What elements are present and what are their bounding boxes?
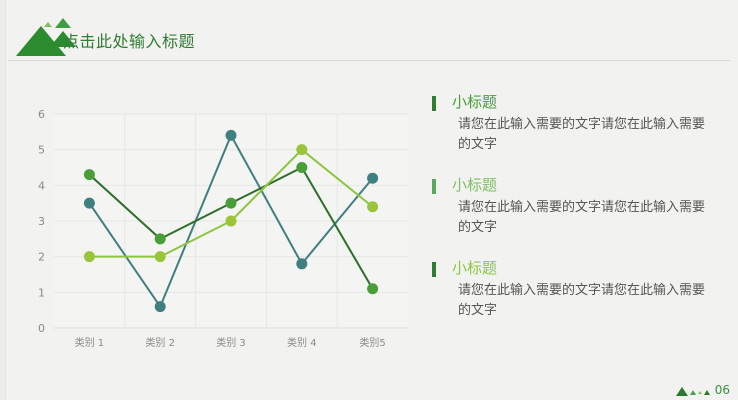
text-block-3-body[interactable]: 请您在此输入需要的文字请您在此输入需要的文字	[458, 281, 716, 321]
line-chart[interactable]: 0123456类别 1类别 2类别 3类别 4类别5	[22, 100, 422, 360]
footer-triangle-3-icon	[698, 391, 702, 394]
accent-bar-1	[432, 96, 436, 111]
svg-text:6: 6	[38, 108, 45, 121]
triangle-tiny-icon	[44, 22, 52, 27]
slide-header: 点击此处输入标题	[0, 0, 738, 62]
text-block-1-body[interactable]: 请您在此输入需要的文字请您在此输入需要的文字	[458, 115, 716, 155]
text-block-3-heading[interactable]: 小标题	[452, 258, 724, 278]
svg-text:4: 4	[38, 179, 45, 192]
footer-triangle-1-icon	[676, 387, 688, 396]
svg-text:类别5: 类别5	[359, 336, 385, 349]
text-block-1[interactable]: 小标题 请您在此输入需要的文字请您在此输入需要的文字	[432, 92, 724, 155]
svg-text:类别 4: 类别 4	[287, 336, 317, 349]
svg-text:0: 0	[38, 322, 45, 335]
svg-text:类别 2: 类别 2	[145, 336, 175, 349]
text-block-2[interactable]: 小标题 请您在此输入需要的文字请您在此输入需要的文字	[432, 175, 724, 238]
svg-text:1: 1	[38, 286, 45, 299]
page-title[interactable]: 点击此处输入标题	[63, 28, 195, 52]
header-divider	[8, 60, 730, 61]
line-chart-svg: 0123456类别 1类别 2类别 3类别 4类别5	[22, 100, 422, 360]
accent-bar-3	[432, 262, 436, 277]
text-block-2-body[interactable]: 请您在此输入需要的文字请您在此输入需要的文字	[458, 198, 716, 238]
svg-text:5: 5	[38, 144, 45, 157]
text-block-2-heading[interactable]: 小标题	[452, 175, 724, 195]
accent-bar-2	[432, 179, 436, 194]
triangle-small-icon	[55, 18, 71, 28]
svg-text:3: 3	[38, 215, 45, 228]
svg-text:2: 2	[38, 251, 45, 264]
svg-text:类别 1: 类别 1	[75, 336, 105, 349]
text-block-3[interactable]: 小标题 请您在此输入需要的文字请您在此输入需要的文字	[432, 258, 724, 321]
footer-triangle-4-icon	[704, 390, 710, 395]
page-number: 06	[715, 384, 730, 396]
slide-footer: 06	[676, 378, 730, 396]
text-block-1-heading[interactable]: 小标题	[452, 92, 724, 112]
slide-canvas: 点击此处输入标题 0123456类别 1类别 2类别 3类别 4类别5 小标题 …	[0, 0, 738, 400]
footer-triangle-2-icon	[690, 390, 696, 395]
svg-text:类别 3: 类别 3	[216, 336, 246, 349]
text-block-column: 小标题 请您在此输入需要的文字请您在此输入需要的文字 小标题 请您在此输入需要的…	[432, 92, 724, 321]
